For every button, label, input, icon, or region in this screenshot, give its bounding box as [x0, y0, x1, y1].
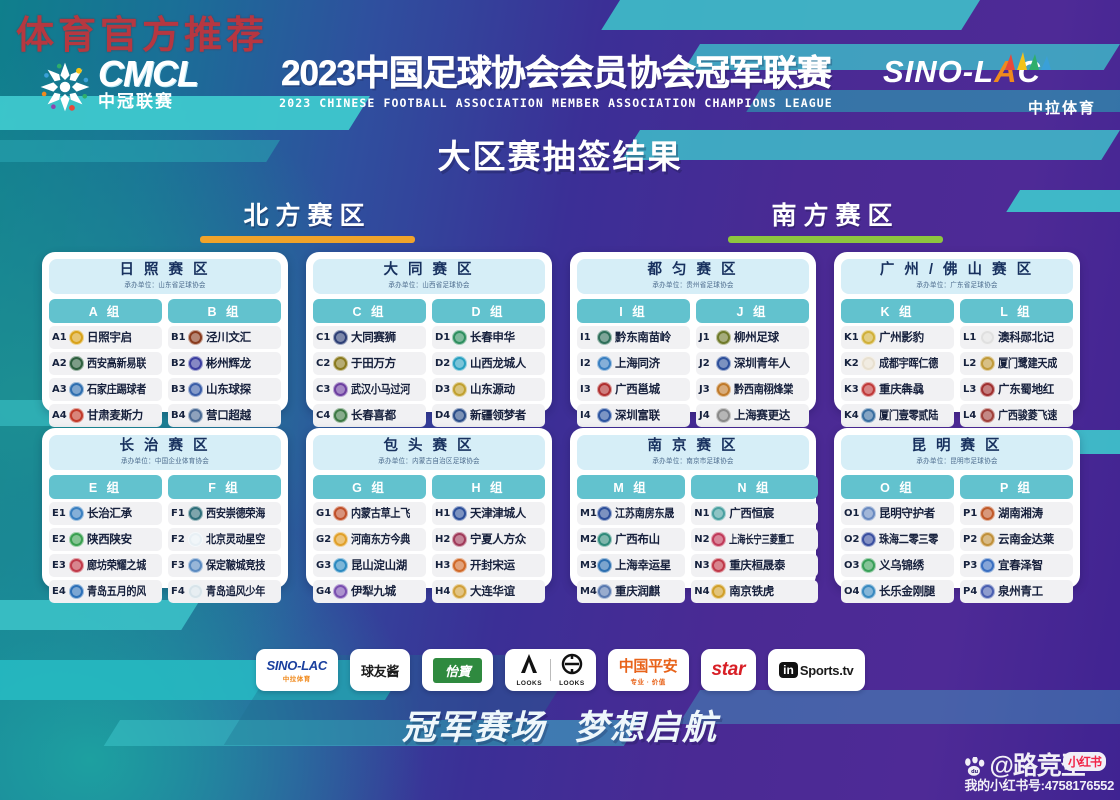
team-name: 义乌锦绣 [879, 557, 924, 573]
team-code: M3 [580, 560, 597, 571]
team-code: A3 [52, 384, 69, 395]
team-row[interactable]: N4南京铁虎 [691, 580, 818, 603]
venue-name: 南 京 赛 区 [577, 439, 809, 455]
venue-panel-header: 都 匀 赛 区承办单位：贵州省足球协会 [577, 259, 809, 294]
group-columns: I 组I1黔东南苗岭I2上海同济I3广西邕城I4深圳富联J 组J1柳州足球J2深… [577, 299, 809, 427]
team-crest-icon [980, 532, 995, 547]
group-columns: K 组K1广州影豹K2成都宇晖仁德K3重庆犇骉K4厦门壹零贰陆L 组L1澳科郧北… [841, 299, 1073, 427]
team-code: J3 [699, 384, 716, 395]
group-columns: A 组A1日照宇启A2西安高新易联A3石家庄踢球者A4甘肃麦斯力B 组B1泾川文… [49, 299, 281, 427]
team-code: G4 [316, 586, 333, 597]
team-code: P3 [963, 560, 980, 571]
team-crest-icon [69, 408, 84, 423]
team-crest-icon [188, 408, 203, 423]
team-row[interactable]: B4营口超越 [168, 404, 281, 427]
sponsor-sub: 中拉体育 [267, 673, 327, 683]
team-row[interactable]: H3开封宋运 [432, 554, 545, 577]
title-block: 2023中国足球协会会员协会冠军联赛 2023 CHINESE FOOTBALL… [256, 56, 856, 110]
team-code: N1 [694, 508, 711, 519]
team-row[interactable]: O1昆明守护者 [841, 502, 954, 525]
team-code: O3 [844, 560, 861, 571]
team-code: O1 [844, 508, 861, 519]
team-row[interactable]: A4甘肃麦斯力 [49, 404, 162, 427]
team-crest-icon [188, 558, 203, 573]
team-crest-icon [69, 356, 84, 371]
sponsor-logo-qiu-you-jiang: 球友酱 [350, 649, 410, 691]
team-crest-icon [711, 584, 726, 599]
team-name: 柳州足球 [734, 329, 779, 345]
team-name: 重庆桓晟泰 [729, 557, 785, 573]
team-crest-icon [980, 584, 995, 599]
team-name: 广西布山 [615, 531, 660, 547]
team-name: 广西骏菱飞速 [998, 407, 1057, 423]
team-crest-icon [333, 356, 348, 371]
team-crest-icon [69, 558, 84, 573]
team-code: H4 [435, 586, 452, 597]
team-crest-icon [333, 532, 348, 547]
team-code: A1 [52, 332, 69, 343]
team-name: 于田万方 [351, 355, 396, 371]
team-row[interactable]: P3宜春泽智 [960, 554, 1073, 577]
sponsor-logo-yibao: 怡寶 [422, 649, 493, 691]
sponsor-divider [550, 659, 551, 681]
team-code: K1 [844, 332, 861, 343]
team-name: 广州影豹 [879, 329, 924, 345]
team-crest-icon [69, 506, 84, 521]
venue-organizer: 承办单位：中国企业体育协会 [56, 456, 274, 465]
team-row[interactable]: J2深圳青年人 [696, 352, 809, 375]
team-row[interactable]: N2上海长宁三菱重工 [691, 528, 818, 551]
team-name: 天津津城人 [470, 505, 526, 521]
sponsor-logo-ping-an: 中国平安专业 · 价值 [608, 649, 689, 691]
team-code: D3 [435, 384, 452, 395]
promo-stamp: 体育官方推荐 [16, 4, 268, 59]
team-code: K2 [844, 358, 861, 369]
team-row[interactable]: E3廊坊荣耀之城 [49, 554, 162, 577]
team-row[interactable]: J3黔西南栩烽棠 [696, 378, 809, 401]
team-row[interactable]: F1西安崇德荣海 [168, 502, 281, 525]
team-crest-icon [716, 408, 731, 423]
team-name: 泾川文汇 [206, 329, 251, 345]
group-header: I 组 [577, 299, 690, 323]
group-header: L 组 [960, 299, 1073, 323]
team-code: H3 [435, 560, 452, 571]
team-code: D4 [435, 410, 452, 421]
group-column: E 组E1长治汇承E2陕西陕安E3廊坊荣耀之城E4青岛五月的风 [49, 475, 162, 603]
team-code: F2 [171, 534, 188, 545]
team-name: 江苏南房东晟 [615, 505, 674, 521]
team-name: 新疆领梦者 [470, 407, 526, 423]
team-row[interactable]: L2厦门鹭建天成 [960, 352, 1073, 375]
team-code: K4 [844, 410, 861, 421]
team-row[interactable]: I3广西邕城 [577, 378, 690, 401]
team-name: 伊犁九城 [351, 583, 396, 599]
team-row[interactable]: D3山东源动 [432, 378, 545, 401]
team-row[interactable]: B3山东球探 [168, 378, 281, 401]
team-crest-icon [711, 558, 726, 573]
venue-panel: 南 京 赛 区承办单位：南京市足球协会M 组M1江苏南房东晟M2广西布山M3上海… [570, 428, 816, 588]
team-row[interactable]: H2宁夏人方众 [432, 528, 545, 551]
team-row[interactable]: E2陕西陕安 [49, 528, 162, 551]
team-name: 珠海二零三零 [879, 531, 938, 547]
team-row[interactable]: F4青岛追风少年 [168, 580, 281, 603]
group-header: O 组 [841, 475, 954, 499]
sponsor-logo-sino-lac: SINO-LAC中拉体育 [256, 649, 338, 691]
team-row[interactable]: K3重庆犇骉 [841, 378, 954, 401]
team-name: 甘肃麦斯力 [87, 407, 143, 423]
team-row[interactable]: L4广西骏菱飞速 [960, 404, 1073, 427]
team-crest-icon [597, 382, 612, 397]
cmcl-logo: CMCL 中冠联赛 [36, 56, 236, 118]
venue-name: 都 匀 赛 区 [577, 263, 809, 279]
team-name: 青岛五月的风 [87, 583, 146, 599]
group-column: N 组N1广西恒宸N2上海长宁三菱重工N3重庆桓晟泰N4南京铁虎 [691, 475, 818, 603]
group-column: L 组L1澳科郧北记L2厦门鹭建天成L3广东蜀地红L4广西骏菱飞速 [960, 299, 1073, 427]
team-crest-icon [716, 330, 731, 345]
team-name: 成都宇晖仁德 [879, 355, 938, 371]
team-crest-icon [333, 330, 348, 345]
team-row[interactable]: P2云南金达莱 [960, 528, 1073, 551]
team-row[interactable]: M2广西布山 [577, 528, 685, 551]
team-name: 重庆犇骉 [879, 381, 924, 397]
team-name: 黔东南苗岭 [615, 329, 671, 345]
team-row[interactable]: A2西安高新易联 [49, 352, 162, 375]
group-header: K 组 [841, 299, 954, 323]
sponsor-sub: LOOKS [516, 680, 542, 687]
venue-panel: 长 治 赛 区承办单位：中国企业体育协会E 组E1长治汇承E2陕西陕安E3廊坊荣… [42, 428, 288, 588]
venue-panel: 大 同 赛 区承办单位：山西省足球协会C 组C1大同赛狮C2于田万方C3武汉小马… [306, 252, 552, 412]
team-name: 山东球探 [206, 381, 251, 397]
watermark: du @路竞圣 小红书 我的小红书号:4758176552 [964, 754, 1114, 794]
slogan: 冠军赛场梦想启航 [0, 700, 1120, 749]
group-column: I 组I1黔东南苗岭I2上海同济I3广西邕城I4深圳富联 [577, 299, 690, 427]
team-code: L3 [963, 384, 980, 395]
team-crest-icon [69, 584, 84, 599]
group-column: D 组D1长春申华D2山西龙城人D3山东源动D4新疆领梦者 [432, 299, 545, 427]
sponsor-label: SINO-LAC [267, 658, 327, 673]
team-code: C3 [316, 384, 333, 395]
team-crest-icon [452, 408, 467, 423]
team-row[interactable]: J1柳州足球 [696, 326, 809, 349]
group-column: J 组J1柳州足球J2深圳青年人J3黔西南栩烽棠J4上海赛更达 [696, 299, 809, 427]
team-name: 武汉小马过河 [351, 381, 410, 397]
team-row[interactable]: G1内蒙古草上飞 [313, 502, 426, 525]
group-column: G 组G1内蒙古草上飞G2河南东方今典G3昆山淀山湖G4伊犁九城 [313, 475, 426, 603]
sino-lac-sub-text: 中拉体育 [1028, 97, 1096, 118]
group-columns: O 组O1昆明守护者O2珠海二零三零O3义乌锦绣O4长乐金刚腿P 组P1湖南湘涛… [841, 475, 1073, 603]
team-code: B2 [171, 358, 188, 369]
team-crest-icon [452, 558, 467, 573]
team-crest-icon [980, 558, 995, 573]
team-code: E3 [52, 560, 69, 571]
team-crest-icon [711, 532, 726, 547]
team-row[interactable]: B2彬州辉龙 [168, 352, 281, 375]
team-row[interactable]: K2成都宇晖仁德 [841, 352, 954, 375]
team-code: A4 [52, 410, 69, 421]
team-name: 宁夏人方众 [470, 531, 526, 547]
region-headings: 北方赛区 南方赛区 [0, 196, 1120, 242]
team-code: C4 [316, 410, 333, 421]
venue-panel-header: 昆 明 赛 区承办单位：昆明市足球协会 [841, 435, 1073, 470]
team-name: 西安崇德荣海 [206, 505, 265, 521]
team-code: E2 [52, 534, 69, 545]
team-code: H2 [435, 534, 452, 545]
team-row[interactable]: M4重庆润麒 [577, 580, 685, 603]
baidu-paw-icon: du [964, 757, 986, 777]
team-row[interactable]: P1湖南湘涛 [960, 502, 1073, 525]
team-crest-icon [597, 532, 612, 547]
team-row[interactable]: I1黔东南苗岭 [577, 326, 690, 349]
venue-panel-header: 南 京 赛 区承办单位：南京市足球协会 [577, 435, 809, 470]
sponsor-label: LOOKS [559, 680, 585, 687]
team-crest-icon [188, 356, 203, 371]
team-name: 泉州青工 [998, 583, 1043, 599]
sponsor-logo-star: star [701, 649, 757, 691]
team-name: 昆山淀山湖 [351, 557, 407, 573]
venue-name: 长 治 赛 区 [49, 439, 281, 455]
team-row[interactable]: B1泾川文汇 [168, 326, 281, 349]
team-code: J1 [699, 332, 716, 343]
team-name: 上海同济 [615, 355, 660, 371]
team-crest-icon [861, 532, 876, 547]
team-crest-icon [861, 558, 876, 573]
venue-panel: 广 州 / 佛 山 赛 区承办单位：广东省足球协会K 组K1广州影豹K2成都宇晖… [834, 252, 1080, 412]
venue-panel-header: 广 州 / 佛 山 赛 区承办单位：广东省足球协会 [841, 259, 1073, 294]
team-crest-icon [333, 408, 348, 423]
team-row[interactable]: D2山西龙城人 [432, 352, 545, 375]
group-header: D 组 [432, 299, 545, 323]
team-crest-icon [452, 584, 467, 599]
team-crest-icon [452, 506, 467, 521]
team-name: 廊坊荣耀之城 [87, 557, 146, 573]
team-row[interactable]: C3武汉小马过河 [313, 378, 426, 401]
team-code: E4 [52, 586, 69, 597]
team-name: 内蒙古草上飞 [351, 505, 410, 521]
team-row[interactable]: O3义乌锦绣 [841, 554, 954, 577]
venue-name: 广 州 / 佛 山 赛 区 [841, 263, 1073, 279]
team-name: 营口超越 [206, 407, 251, 423]
team-crest-icon [861, 506, 876, 521]
venue-panel: 昆 明 赛 区承办单位：昆明市足球协会O 组O1昆明守护者O2珠海二零三零O3义… [834, 428, 1080, 588]
team-code: F4 [171, 586, 188, 597]
team-row[interactable]: C1大同赛狮 [313, 326, 426, 349]
team-row[interactable]: C4长春喜都 [313, 404, 426, 427]
team-code: P4 [963, 586, 980, 597]
slogan-part-1: 冠军赛场 [402, 709, 546, 747]
team-name: 长乐金刚腿 [879, 583, 935, 599]
group-columns: E 组E1长治汇承E2陕西陕安E3廊坊荣耀之城E4青岛五月的风F 组F1西安崇德… [49, 475, 281, 603]
team-name: 河南东方今典 [351, 531, 410, 547]
team-row[interactable]: G4伊犁九城 [313, 580, 426, 603]
sponsor-label: star [712, 659, 746, 681]
team-code: F3 [171, 560, 188, 571]
venue-panel: 日 照 赛 区承办单位：山东省足球协会A 组A1日照宇启A2西安高新易联A3石家… [42, 252, 288, 412]
group-header: C 组 [313, 299, 426, 323]
team-name: 日照宇启 [87, 329, 132, 345]
team-name: 上海赛更达 [734, 407, 790, 423]
group-column: C 组C1大同赛狮C2于田万方C3武汉小马过河C4长春喜都 [313, 299, 426, 427]
team-row[interactable]: G2河南东方今典 [313, 528, 426, 551]
event-title-en: 2023 CHINESE FOOTBALL ASSOCIATION MEMBER… [256, 96, 856, 110]
cmcl-flower-icon [36, 58, 94, 116]
group-column: H 组H1天津津城人H2宁夏人方众H3开封宋运H4大连华谊 [432, 475, 545, 603]
team-name: 长春喜都 [351, 407, 396, 423]
team-row[interactable]: A1日照宇启 [49, 326, 162, 349]
team-row[interactable]: I4深圳富联 [577, 404, 690, 427]
group-header: M 组 [577, 475, 685, 499]
team-row[interactable]: J4上海赛更达 [696, 404, 809, 427]
team-code: B4 [171, 410, 188, 421]
team-row[interactable]: E1长治汇承 [49, 502, 162, 525]
team-crest-icon [861, 382, 876, 397]
team-name: 重庆润麒 [615, 583, 660, 599]
group-header: G 组 [313, 475, 426, 499]
team-name: 西安高新易联 [87, 355, 146, 371]
cmcl-main-text: CMCL [98, 56, 198, 92]
team-crest-icon [333, 558, 348, 573]
team-row[interactable]: N1广西恒宸 [691, 502, 818, 525]
team-row[interactable]: F2北京灵动星空 [168, 528, 281, 551]
region-south-label: 南方赛区 [728, 196, 943, 232]
team-row[interactable]: L1澳科郧北记 [960, 326, 1073, 349]
team-row[interactable]: H4大连华谊 [432, 580, 545, 603]
team-row[interactable]: D4新疆领梦者 [432, 404, 545, 427]
team-row[interactable]: D1长春申华 [432, 326, 545, 349]
team-row[interactable]: O4长乐金刚腿 [841, 580, 954, 603]
team-name: 彬州辉龙 [206, 355, 251, 371]
group-column: M 组M1江苏南房东晟M2广西布山M3上海幸运星M4重庆润麒 [577, 475, 685, 603]
team-code: L2 [963, 358, 980, 369]
team-crest-icon [333, 506, 348, 521]
venue-organizer: 承办单位：内蒙古自治区足球协会 [320, 456, 538, 465]
team-row[interactable]: A3石家庄踢球者 [49, 378, 162, 401]
venue-panel-header: 长 治 赛 区承办单位：中国企业体育协会 [49, 435, 281, 470]
team-crest-icon [452, 382, 467, 397]
team-crest-icon [69, 382, 84, 397]
sponsor-logo-looks: LOOKSLOOKS [505, 649, 595, 691]
group-columns: M 组M1江苏南房东晟M2广西布山M3上海幸运星M4重庆润麒N 组N1广西恒宸N… [577, 475, 809, 603]
team-crest-icon [597, 558, 612, 573]
region-heading-north: 北方赛区 [200, 196, 415, 243]
team-name: 石家庄踢球者 [87, 381, 146, 397]
team-code: L4 [963, 410, 980, 421]
team-crest-icon [861, 584, 876, 599]
team-name: 湖南湘涛 [998, 505, 1043, 521]
venue-organizer: 承办单位：山东省足球协会 [56, 280, 274, 289]
team-crest-icon [861, 356, 876, 371]
team-row[interactable]: O2珠海二零三零 [841, 528, 954, 551]
team-name: 广西恒宸 [729, 505, 774, 521]
team-code: I4 [580, 410, 597, 421]
team-crest-icon [980, 506, 995, 521]
team-code: G2 [316, 534, 333, 545]
group-header: J 组 [696, 299, 809, 323]
team-name: 长治汇承 [87, 505, 132, 521]
team-code: N4 [694, 586, 711, 597]
team-row[interactable]: I2上海同济 [577, 352, 690, 375]
team-row[interactable]: L3广东蜀地红 [960, 378, 1073, 401]
team-row[interactable]: N3重庆桓晟泰 [691, 554, 818, 577]
team-code: E1 [52, 508, 69, 519]
venue-organizer: 承办单位：南京市足球协会 [584, 456, 802, 465]
team-name: 大同赛狮 [351, 329, 396, 345]
team-crest-icon [69, 330, 84, 345]
group-column: F 组F1西安崇德荣海F2北京灵动星空F3保定鞁城竞技F4青岛追风少年 [168, 475, 281, 603]
team-row[interactable]: E4青岛五月的风 [49, 580, 162, 603]
team-name: 广东蜀地红 [998, 381, 1054, 397]
group-column: K 组K1广州影豹K2成都宇晖仁德K3重庆犇骉K4厦门壹零贰陆 [841, 299, 954, 427]
team-crest-icon [188, 330, 203, 345]
team-code: N2 [694, 534, 711, 545]
team-row[interactable]: M1江苏南房东晟 [577, 502, 685, 525]
team-crest-icon [452, 356, 467, 371]
group-column: A 组A1日照宇启A2西安高新易联A3石家庄踢球者A4甘肃麦斯力 [49, 299, 162, 427]
team-name: 云南金达莱 [998, 531, 1054, 547]
team-crest-icon [861, 330, 876, 345]
team-row[interactable]: F3保定鞁城竞技 [168, 554, 281, 577]
team-code: I3 [580, 384, 597, 395]
team-code: P2 [963, 534, 980, 545]
team-name: 黔西南栩烽棠 [734, 381, 793, 397]
team-row[interactable]: C2于田万方 [313, 352, 426, 375]
team-row[interactable]: P4泉州青工 [960, 580, 1073, 603]
team-name: 深圳富联 [615, 407, 660, 423]
venue-organizer: 承办单位：广东省足球协会 [848, 280, 1066, 289]
watermark-badge: 小红书 [1063, 752, 1106, 771]
team-code: B3 [171, 384, 188, 395]
team-row[interactable]: K1广州影豹 [841, 326, 954, 349]
venue-panel-header: 大 同 赛 区承办单位：山西省足球协会 [313, 259, 545, 294]
team-row[interactable]: H1天津津城人 [432, 502, 545, 525]
team-crest-icon [188, 382, 203, 397]
team-name: 南京铁虎 [729, 583, 774, 599]
group-header: E 组 [49, 475, 162, 499]
team-row[interactable]: K4厦门壹零贰陆 [841, 404, 954, 427]
venue-organizer: 承办单位：贵州省足球协会 [584, 280, 802, 289]
group-header: P 组 [960, 475, 1073, 499]
group-header: N 组 [691, 475, 818, 499]
team-row[interactable]: G3昆山淀山湖 [313, 554, 426, 577]
venue-organizer: 承办单位：山西省足球协会 [320, 280, 538, 289]
team-name: 澳科郧北记 [998, 329, 1054, 345]
team-row[interactable]: M3上海幸运星 [577, 554, 685, 577]
team-code: I2 [580, 358, 597, 369]
team-code: C2 [316, 358, 333, 369]
team-name: 大连华谊 [470, 583, 515, 599]
team-name: 山西龙城人 [470, 355, 526, 371]
team-crest-icon [711, 506, 726, 521]
watermark-note: 我的小红书号:4758176552 [964, 775, 1114, 794]
team-crest-icon [597, 584, 612, 599]
sino-lac-wordmark: SINO-LAC [883, 56, 1098, 87]
team-name: 上海幸运星 [615, 557, 671, 573]
group-header: A 组 [49, 299, 162, 323]
team-name: 厦门鹭建天成 [998, 355, 1057, 371]
region-heading-south: 南方赛区 [728, 196, 943, 243]
venue-name: 大 同 赛 区 [313, 263, 545, 279]
region-north-label: 北方赛区 [200, 196, 415, 232]
team-code: M4 [580, 586, 597, 597]
team-name: 广西邕城 [615, 381, 660, 397]
sponsor-label: 中国平安 [619, 655, 678, 676]
team-crest-icon [597, 506, 612, 521]
team-code: J4 [699, 410, 716, 421]
group-columns: G 组G1内蒙古草上飞G2河南东方今典G3昆山淀山湖G4伊犁九城H 组H1天津津… [313, 475, 545, 603]
venue-panel-header: 包 头 赛 区承办单位：内蒙古自治区足球协会 [313, 435, 545, 470]
sponsor-label: 怡寶 [433, 658, 482, 683]
team-crest-icon [980, 382, 995, 397]
event-title-cn: 2023中国足球协会会员协会冠军联赛 [256, 56, 856, 93]
